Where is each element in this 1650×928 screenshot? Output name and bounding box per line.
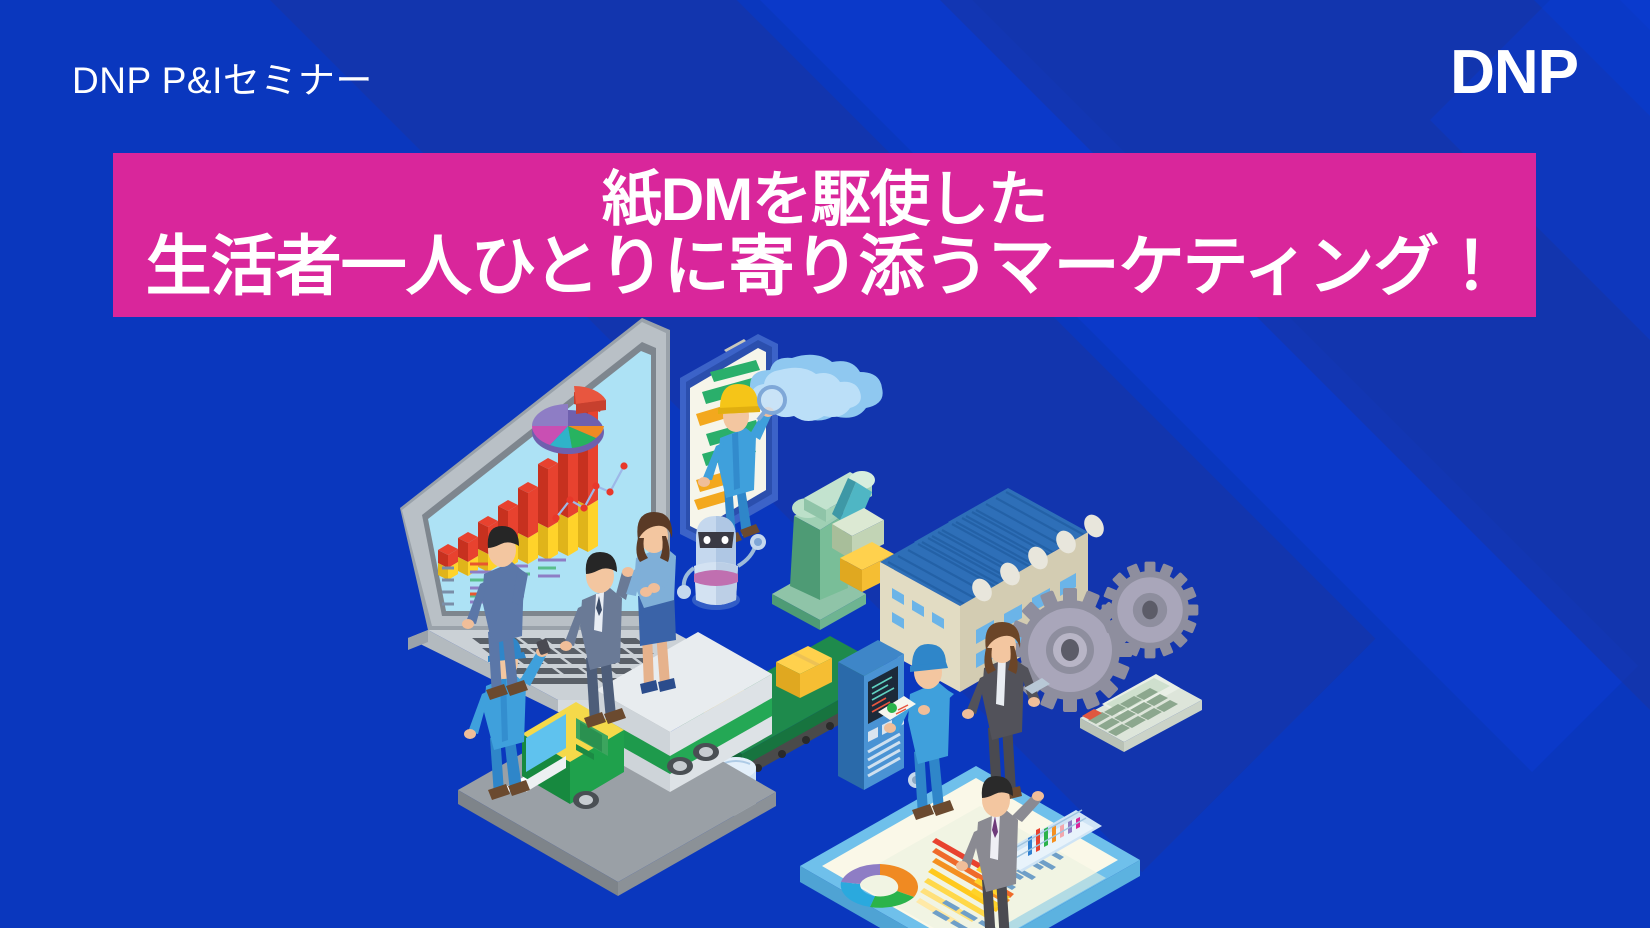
- title-band: 紙DMを駆使した 生活者一人ひとりに寄り添うマーケティング！: [113, 153, 1536, 317]
- robot-arm: [772, 471, 894, 630]
- hero-illustration: [380, 300, 1210, 900]
- seminar-label: DNP P&Iセミナー: [72, 50, 373, 104]
- banner-canvas: DNP P&Iセミナー DNP 紙DMを駆使した 生活者一人ひとりに寄り添うマー…: [0, 0, 1650, 928]
- dnp-logo: DNP: [1450, 42, 1578, 104]
- title-line-1: 紙DMを駆使した: [602, 169, 1047, 231]
- diagonal-band-6: [1430, 0, 1650, 756]
- illustration-svg: [380, 300, 1210, 900]
- title-line-2: 生活者一人ひとりに寄り添うマーケティング！: [146, 232, 1504, 301]
